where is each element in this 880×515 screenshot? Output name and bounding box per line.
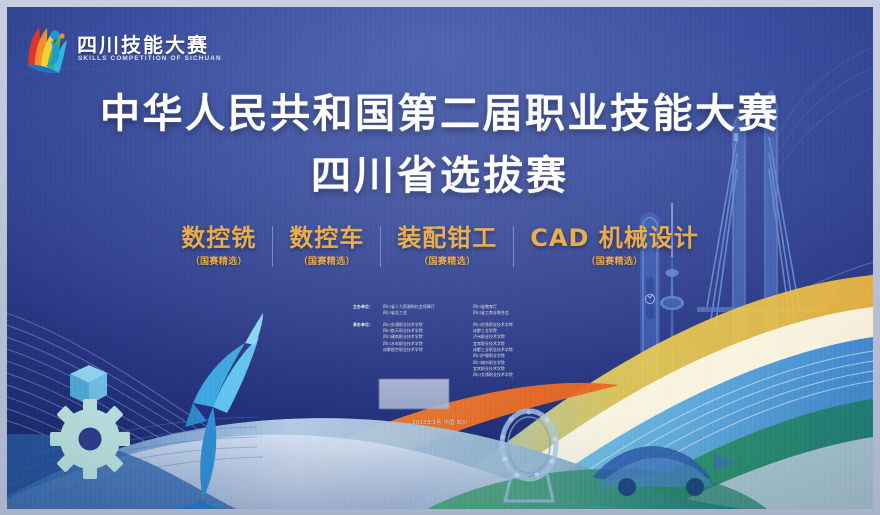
title-line-1: 中华人民共和国第二届职业技能大赛 <box>7 91 873 137</box>
redacted-plate <box>379 379 449 409</box>
credit-column-left: 四川交通职业技术学院 四川航天职业技术学院 四川建筑职业技术学院 四川水电职业技… <box>383 322 455 379</box>
category-name: 数控铣 <box>181 226 256 251</box>
credit-cohost: 承办单位： 四川交通职业技术学院 四川航天职业技术学院 四川建筑职业技术学院 四… <box>353 322 593 379</box>
logo-name-en: SKILLS COMPETITION OF SICHUAN <box>78 55 222 62</box>
credit-column-right: 四川省教育厅 四川省工商业联合会 <box>473 304 545 317</box>
rainbow-fan-figure-icon <box>21 19 75 75</box>
credit-organizer: 主办单位： 四川省人力资源和社会保障厅 四川省总工会 四川省教育厅 四川省工商业… <box>353 304 593 317</box>
category-sub: （国赛精选） <box>397 254 497 267</box>
screenshot-root: 四川技能大赛 SKILLS COMPETITION OF SICHUAN 中华人… <box>0 0 880 515</box>
credits-block: 主办单位： 四川省人力资源和社会保障厅 四川省总工会 四川省教育厅 四川省工商业… <box>353 304 593 384</box>
credit-line: 成都航空职业技术学院 <box>383 347 455 353</box>
category-sub: （国赛精选） <box>181 254 256 267</box>
sichuan-skills-logo: 四川技能大赛 SKILLS COMPETITION OF SICHUAN <box>21 19 197 81</box>
category-name: CAD 机械设计 <box>530 226 698 251</box>
category-item: 数控铣 （国赛精选） <box>165 226 272 267</box>
credit-line: 四川交通职业技术学院 <box>473 372 545 378</box>
category-name: 数控车 <box>289 226 364 251</box>
category-sub: （国赛精选） <box>289 254 364 267</box>
category-name: 装配钳工 <box>397 226 497 251</box>
credit-line: 四川省工商业联合会 <box>473 310 545 316</box>
category-list: 数控铣 （国赛精选） 数控车 （国赛精选） 装配钳工 （国赛精选） CAD 机械… <box>7 226 873 267</box>
category-item: 数控车 （国赛精选） <box>272 226 380 267</box>
title-line-2: 四川省选拔赛 <box>7 143 873 201</box>
title-block: 中华人民共和国第二届职业技能大赛 四川省选拔赛 <box>7 91 873 201</box>
credit-column-left: 四川省人力资源和社会保障厅 四川省总工会 <box>383 304 455 317</box>
credit-column-right: 四川信息职业技术学院 成都工业学院 泸州职业技术学院 宜宾职业技术学院 成都工业… <box>473 322 545 379</box>
credit-label: 主办单位： <box>353 304 383 317</box>
gear-icon <box>50 399 130 479</box>
credit-line: 四川省总工会 <box>383 310 455 316</box>
event-backdrop-banner: 四川技能大赛 SKILLS COMPETITION OF SICHUAN 中华人… <box>7 7 873 509</box>
credit-label: 承办单位： <box>353 322 383 379</box>
category-item: 装配钳工 （国赛精选） <box>380 226 513 267</box>
category-sub: （国赛精选） <box>530 254 698 267</box>
event-dateline: 2023年3月 中国·四川 <box>7 419 873 426</box>
category-item: CAD 机械设计 （国赛精选） <box>513 226 714 267</box>
logo-name-cn: 四川技能大赛 <box>77 29 209 58</box>
